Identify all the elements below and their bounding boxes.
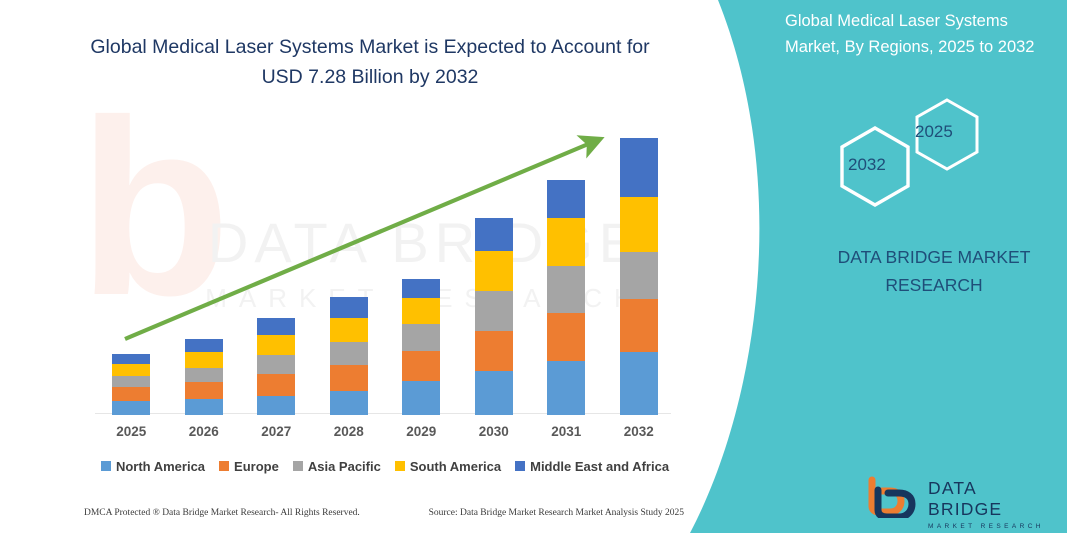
legend-label: Asia Pacific — [308, 459, 381, 474]
bar-2031 — [547, 180, 585, 415]
legend-item[interactable]: Asia Pacific — [293, 459, 381, 474]
bar-segment — [185, 352, 223, 368]
x-tick-2029: 2029 — [386, 424, 456, 439]
bar-segment — [547, 218, 585, 266]
hexagon-2032-label: 2032 — [848, 155, 886, 175]
bar-segment — [402, 351, 440, 381]
legend-swatch — [293, 461, 303, 471]
bar-segment — [547, 313, 585, 361]
bar-2030 — [475, 218, 513, 415]
bar-segment — [330, 318, 368, 342]
bar-segment — [547, 180, 585, 218]
bar-segment — [257, 355, 295, 374]
bar-segment — [402, 381, 440, 415]
bar-segment — [475, 331, 513, 371]
legend-item[interactable]: Middle East and Africa — [515, 459, 669, 474]
bar-segment — [112, 376, 150, 387]
legend-swatch — [515, 461, 525, 471]
bar-2025 — [112, 354, 150, 415]
bar-segment — [257, 318, 295, 335]
bar-segment — [402, 324, 440, 351]
bar-segment — [112, 387, 150, 401]
footer: DMCA Protected ® Data Bridge Market Rese… — [84, 508, 684, 518]
footer-copyright: DMCA Protected ® Data Bridge Market Rese… — [84, 508, 360, 518]
bar-segment — [475, 291, 513, 331]
bar-segment — [402, 298, 440, 324]
legend-swatch — [219, 461, 229, 471]
bar-segment — [475, 218, 513, 251]
right-panel-title: Global Medical Laser Systems Market, By … — [785, 8, 1047, 60]
bar-segment — [402, 279, 440, 298]
hexagon-2025-label: 2025 — [915, 122, 953, 142]
bar-segment — [620, 299, 658, 352]
bar-segment — [547, 361, 585, 415]
bar-segment — [185, 382, 223, 399]
x-tick-2030: 2030 — [459, 424, 529, 439]
chart-title: Global Medical Laser Systems Market is E… — [70, 32, 670, 92]
hexagon-badges: 2025 2032 — [820, 95, 1005, 210]
legend-item[interactable]: Europe — [219, 459, 279, 474]
bar-2032 — [620, 138, 658, 415]
x-tick-2027: 2027 — [241, 424, 311, 439]
legend-item[interactable]: North America — [101, 459, 205, 474]
bar-segment — [330, 297, 368, 318]
x-tick-2026: 2026 — [169, 424, 239, 439]
bar-segment — [112, 354, 150, 364]
x-tick-2031: 2031 — [531, 424, 601, 439]
bar-segment — [330, 391, 368, 415]
bar-segment — [620, 197, 658, 252]
right-panel-brand: DATA BRIDGE MARKET RESEARCH — [800, 243, 1067, 299]
bar-segment — [185, 399, 223, 415]
bar-segment — [185, 339, 223, 352]
bar-segment — [185, 368, 223, 382]
bar-segment — [475, 251, 513, 291]
bar-segment — [112, 401, 150, 415]
bar-segment — [257, 396, 295, 415]
bar-segment — [330, 342, 368, 365]
bar-2026 — [185, 339, 223, 415]
logo-mark-icon — [866, 476, 924, 518]
legend-label: North America — [116, 459, 205, 474]
x-tick-2032: 2032 — [604, 424, 674, 439]
bar-segment — [257, 374, 295, 396]
x-tick-2025: 2025 — [96, 424, 166, 439]
bar-chart-plot — [95, 120, 675, 415]
bar-segment — [620, 252, 658, 299]
legend-label: Middle East and Africa — [530, 459, 669, 474]
logo-name: DATA BRIDGE — [928, 478, 1046, 520]
footer-source: Source: Data Bridge Market Research Mark… — [429, 508, 684, 518]
bar-2027 — [257, 318, 295, 415]
bar-segment — [620, 138, 658, 197]
legend-swatch — [101, 461, 111, 471]
bar-segment — [620, 352, 658, 415]
infographic-page: b DATA BRIDGE MARKET RESEARCH Global Med… — [0, 0, 1067, 533]
bar-2029 — [402, 279, 440, 415]
bar-segment — [475, 371, 513, 415]
logo-tagline: MARKET RESEARCH — [928, 523, 1046, 530]
bar-segment — [547, 266, 585, 313]
legend-label: Europe — [234, 459, 279, 474]
x-tick-2028: 2028 — [314, 424, 384, 439]
bar-2028 — [330, 297, 368, 415]
bar-segment — [330, 365, 368, 391]
logo-text: DATA BRIDGE MARKET RESEARCH — [928, 478, 1046, 530]
legend-item[interactable]: South America — [395, 459, 501, 474]
bar-segment — [112, 364, 150, 376]
data-bridge-logo: DATA BRIDGE MARKET RESEARCH — [866, 476, 1046, 520]
legend-label: South America — [410, 459, 501, 474]
legend-swatch — [395, 461, 405, 471]
bar-segment — [257, 335, 295, 355]
chart-legend: North AmericaEuropeAsia PacificSouth Ame… — [95, 455, 675, 477]
x-axis-labels: 20252026202720282029203020312032 — [95, 424, 675, 446]
